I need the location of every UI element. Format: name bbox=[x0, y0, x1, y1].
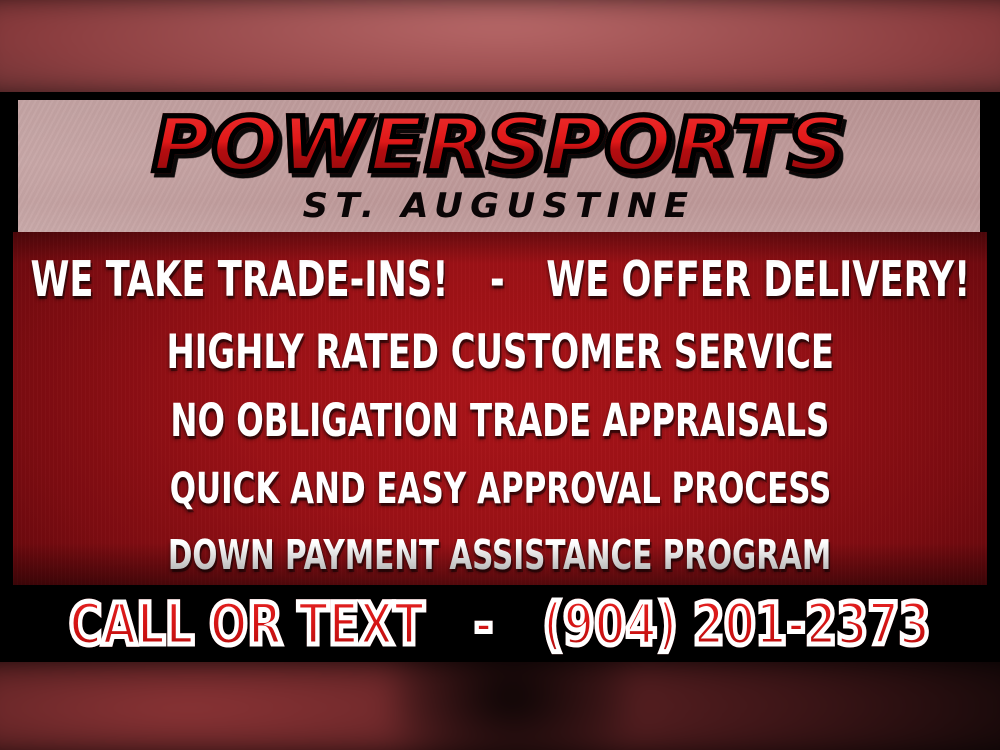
features-panel: WE TAKE TRADE-INS!-WE OFFER DELIVERY! HI… bbox=[13, 232, 987, 585]
feature-separator: - bbox=[448, 254, 546, 306]
blurred-backdrop-top bbox=[0, 0, 1000, 101]
feature-text-right: WE OFFER DELIVERY! bbox=[546, 251, 970, 308]
phone-number[interactable]: (904) 201-2373 bbox=[543, 590, 930, 658]
blurred-backdrop-bottom bbox=[0, 657, 1000, 750]
brand-wordmark: POWERSPORTS bbox=[18, 104, 980, 187]
feature-item: QUICK AND EASY APPROVAL PROCESS bbox=[169, 466, 831, 512]
features-list: WE TAKE TRADE-INS!-WE OFFER DELIVERY! HI… bbox=[13, 232, 987, 585]
brand-location: ST. AUGUSTINE bbox=[18, 186, 980, 226]
advertisement-stage: POWERSPORTS ST. AUGUSTINE WE TAKE TRADE-… bbox=[0, 0, 1000, 750]
feature-item: HIGHLY RATED CUSTOMER SERVICE bbox=[166, 328, 834, 378]
call-to-action-text: CALL OR TEXT-(904) 201-2373 bbox=[69, 593, 930, 655]
feature-text: QUICK AND EASY APPROVAL PROCESS bbox=[169, 464, 831, 514]
logo-banner: POWERSPORTS ST. AUGUSTINE bbox=[18, 100, 980, 232]
cta-label: CALL OR TEXT bbox=[69, 590, 424, 658]
cta-separator: - bbox=[425, 593, 543, 655]
feature-text: NO OBLIGATION TRADE APPRAISALS bbox=[170, 394, 829, 447]
feature-item: DOWN PAYMENT ASSISTANCE PROGRAM bbox=[168, 533, 831, 577]
poster-panel: POWERSPORTS ST. AUGUSTINE WE TAKE TRADE-… bbox=[0, 92, 1000, 662]
call-to-action-bar: CALL OR TEXT-(904) 201-2373 bbox=[0, 585, 1000, 662]
feature-item: NO OBLIGATION TRADE APPRAISALS bbox=[170, 397, 829, 445]
feature-text: DOWN PAYMENT ASSISTANCE PROGRAM bbox=[168, 531, 831, 579]
feature-item: WE TAKE TRADE-INS!-WE OFFER DELIVERY! bbox=[30, 254, 970, 306]
feature-text: HIGHLY RATED CUSTOMER SERVICE bbox=[166, 325, 834, 380]
feature-text-left: WE TAKE TRADE-INS! bbox=[30, 251, 448, 308]
